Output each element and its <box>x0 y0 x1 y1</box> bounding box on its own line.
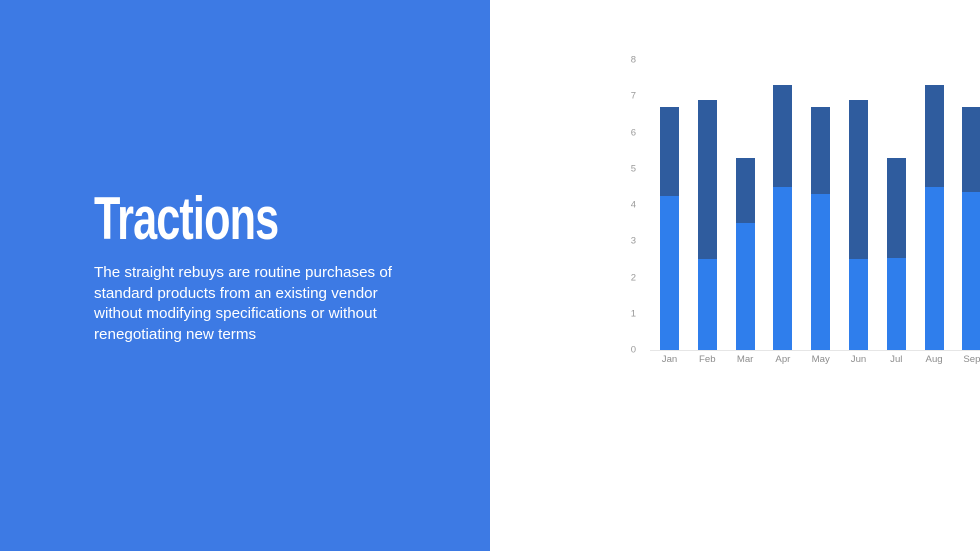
bar-segment-upper <box>849 100 868 260</box>
bar-column[interactable] <box>811 107 830 350</box>
bar-column[interactable] <box>773 85 792 350</box>
bar-column[interactable] <box>698 100 717 350</box>
x-axis-tick-label: Jan <box>650 354 690 365</box>
x-axis-tick-label: Aug <box>914 354 954 365</box>
bar-segment-upper <box>660 107 679 196</box>
x-axis-tick-label: Mar <box>725 354 765 365</box>
bar-column[interactable] <box>660 107 679 350</box>
bar-segment-lower <box>736 223 755 350</box>
bar-segment-upper <box>925 85 944 187</box>
bar-column[interactable] <box>736 158 755 350</box>
x-axis: JanFebMarAprMayJunJulAugSep <box>650 354 980 374</box>
chart-area: 012345678 JanFebMarAprMayJunJulAugSep +3… <box>490 0 980 551</box>
bar-segment-upper <box>773 85 792 187</box>
body-line: without modifying specifications or with… <box>94 304 424 325</box>
x-axis-tick-label: Apr <box>763 354 803 365</box>
y-axis-tick-label: 6 <box>631 127 636 138</box>
left-panel: Tractions The straight rebuys are routin… <box>0 0 490 551</box>
bar-segment-upper <box>736 158 755 223</box>
body-line: The straight rebuys are routine purchase… <box>94 263 424 284</box>
y-axis-tick-label: 5 <box>631 163 636 174</box>
x-axis-tick-label: Jun <box>839 354 879 365</box>
axis-baseline <box>650 350 980 351</box>
bar-segment-lower <box>887 258 906 350</box>
bar-segment-lower <box>925 187 944 350</box>
page-title: Tractions <box>94 188 278 250</box>
x-axis-tick-label: Feb <box>687 354 727 365</box>
bar-segment-lower <box>849 259 868 350</box>
bar-segment-lower <box>698 259 717 350</box>
body-text: The straight rebuys are routine purchase… <box>94 263 424 345</box>
stacked-bar-chart: 012345678 JanFebMarAprMayJunJulAugSep <box>570 60 925 352</box>
bar-column[interactable] <box>887 158 906 350</box>
x-axis-tick-label: Sep <box>952 354 980 365</box>
x-axis-tick-label: Jul <box>876 354 916 365</box>
bar-group <box>650 60 925 350</box>
body-line: standard products from an existing vendo… <box>94 284 424 305</box>
y-axis-tick-label: 0 <box>631 345 636 356</box>
body-line: renegotiating new terms <box>94 325 424 346</box>
y-axis: 012345678 <box>570 60 650 352</box>
bar-segment-upper <box>811 107 830 194</box>
bar-segment-upper <box>962 107 980 192</box>
bar-column[interactable] <box>925 85 944 350</box>
y-axis-tick-label: 1 <box>631 308 636 319</box>
y-axis-tick-label: 7 <box>631 91 636 102</box>
bar-segment-upper <box>698 100 717 260</box>
y-axis-tick-label: 4 <box>631 200 636 211</box>
y-axis-tick-label: 2 <box>631 272 636 283</box>
bar-segment-lower <box>773 187 792 350</box>
bar-segment-lower <box>660 196 679 350</box>
bar-column[interactable] <box>962 107 980 350</box>
x-axis-tick-label: May <box>801 354 841 365</box>
slide: Tractions The straight rebuys are routin… <box>0 0 980 551</box>
bar-segment-lower <box>962 192 980 350</box>
bar-segment-lower <box>811 194 830 350</box>
bar-column[interactable] <box>849 100 868 350</box>
bar-segment-upper <box>887 158 906 258</box>
y-axis-tick-label: 3 <box>631 236 636 247</box>
y-axis-tick-label: 8 <box>631 55 636 66</box>
